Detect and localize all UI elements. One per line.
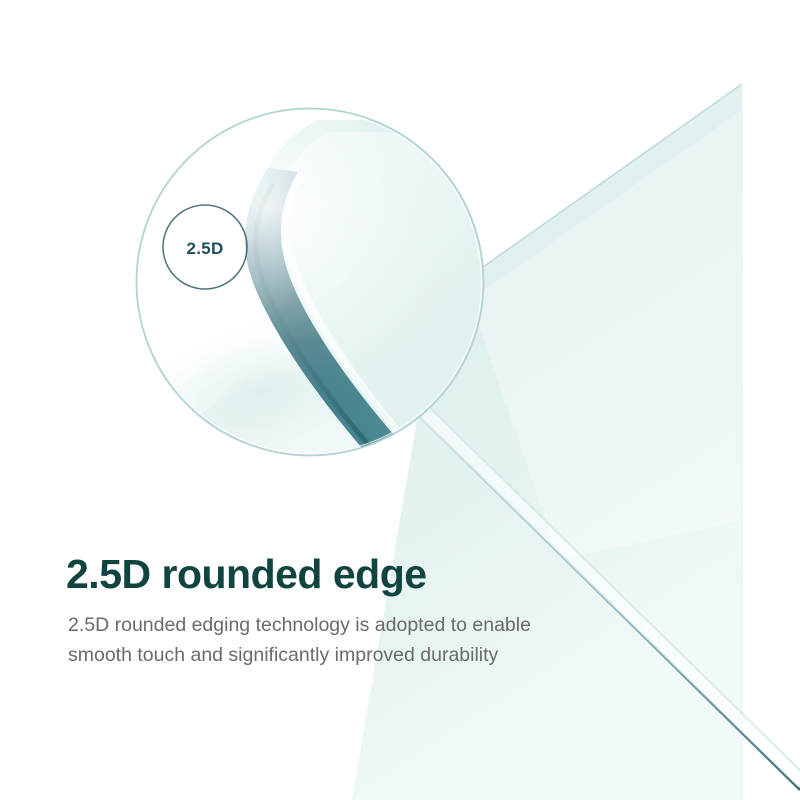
description-line-1: 2.5D rounded edging technology is adopte…	[68, 610, 608, 640]
feature-description: 2.5D rounded edging technology is adopte…	[68, 610, 608, 670]
tempered-glass-illustration: 2.5D	[0, 0, 800, 800]
description-line-2: smooth touch and significantly improved …	[68, 640, 608, 670]
callout-label: 2.5D	[186, 239, 223, 258]
page-title: 2.5D rounded edge	[66, 552, 686, 596]
feature-text-block: 2.5D rounded edge 2.5D rounded edging te…	[66, 552, 686, 671]
product-feature-banner: 2.5D 2.5D rounded edge 2.5D rounded edgi…	[0, 0, 800, 800]
